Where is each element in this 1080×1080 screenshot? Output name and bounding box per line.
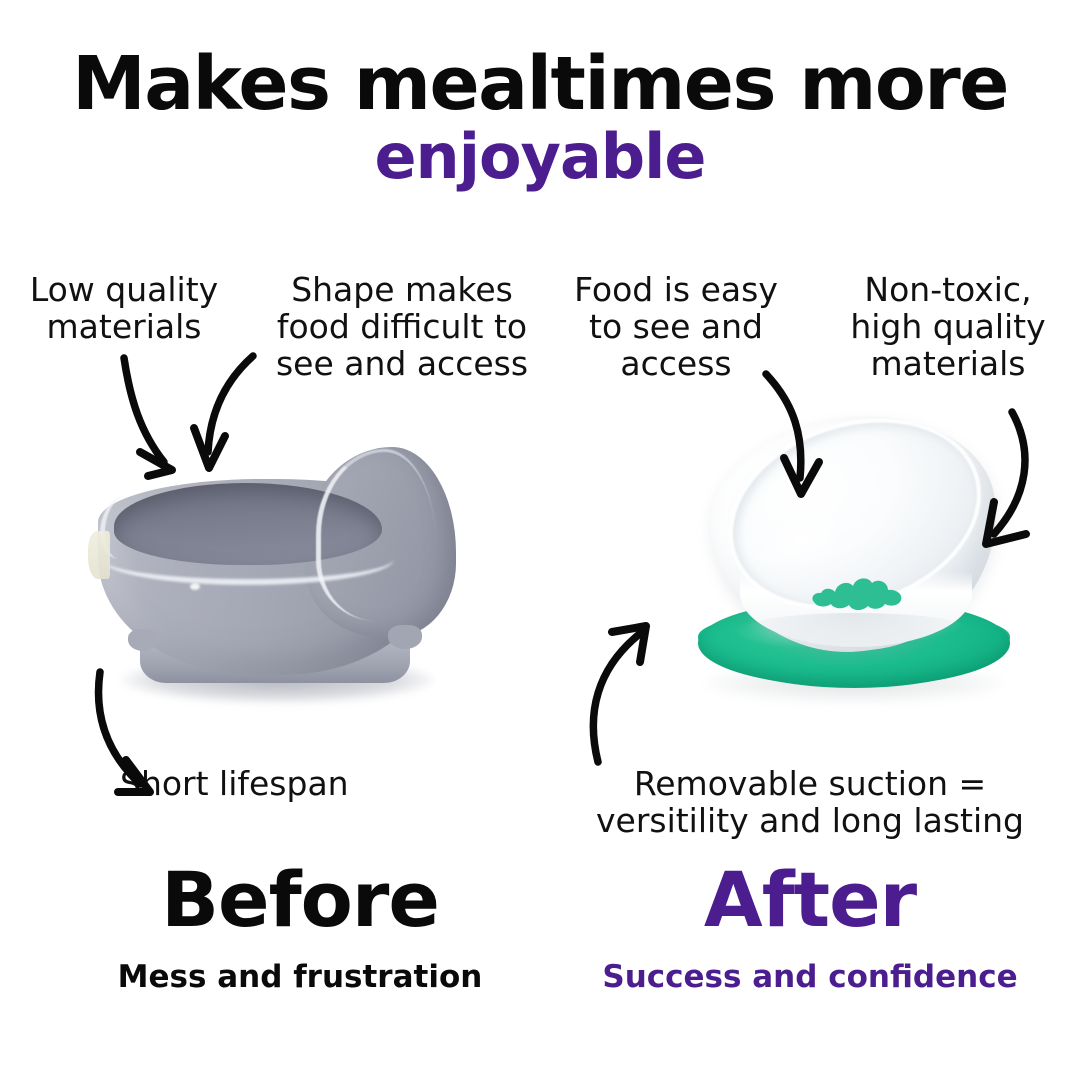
sublabel-after: Success and confidence: [560, 962, 1060, 993]
callout-short-lifespan: Short lifespan: [120, 766, 420, 803]
white-bowl-skirt-shade: [746, 613, 966, 643]
label-after: After: [560, 862, 1060, 938]
callout-removable-suction: Removable suction = versitility and long…: [560, 766, 1060, 840]
headline-line-1: Makes mealtimes more: [0, 48, 1080, 121]
green-splat-logo: [808, 565, 906, 613]
gray-bowl-foot-left: [128, 629, 158, 651]
comparison-infographic: Makes mealtimes more enjoyable Low quali…: [0, 0, 1080, 1080]
product-image-after-white-bowl: [650, 395, 1050, 730]
page-title: Makes mealtimes more enjoyable: [0, 48, 1080, 187]
gray-bowl-wall-rim: [316, 449, 436, 621]
gray-bowl-highlight: [190, 583, 200, 590]
callout-low-quality-materials: Low quality materials: [4, 272, 244, 346]
sublabel-before: Mess and frustration: [40, 962, 560, 993]
product-image-before-gray-bowl: [70, 425, 480, 725]
gray-bowl-foot-right: [388, 625, 422, 649]
gray-bowl-worn-edge: [88, 531, 110, 579]
callout-food-is-easy: Food is easy to see and access: [548, 272, 804, 383]
arrow-removable-suction-icon: [593, 626, 646, 762]
label-before: Before: [40, 862, 560, 938]
callout-shape-makes-food-difficult: Shape makes food difficult to see and ac…: [256, 272, 548, 383]
callout-non-toxic-materials: Non-toxic, high quality materials: [820, 272, 1076, 383]
headline-line-2: enjoyable: [0, 127, 1080, 188]
